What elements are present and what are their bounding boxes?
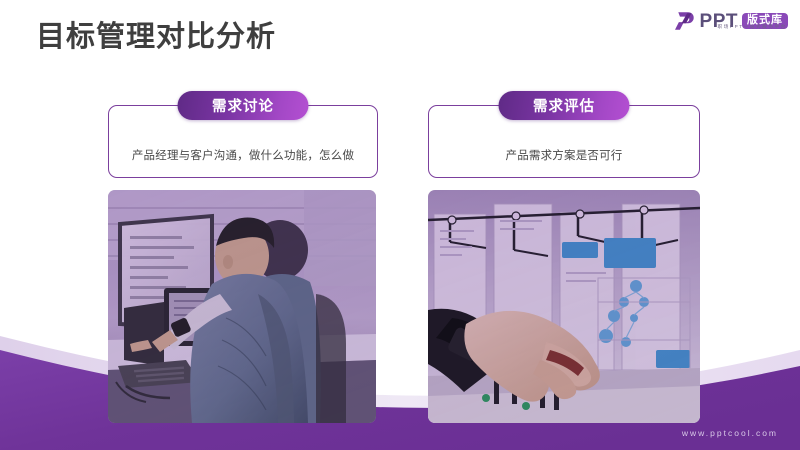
brand-logo: PPT 版式库 (675, 6, 788, 36)
hand-pointing-at-wireframe-wall-photo (428, 190, 700, 423)
card-pill-label: 需求讨论 (178, 91, 309, 120)
card-pill-label: 需求评估 (499, 91, 630, 120)
page-title: 目标管理对比分析 (36, 17, 276, 57)
photo-purple-tint (108, 190, 376, 423)
card-requirement-evaluation: 需求评估 产品需求方案是否可行 (428, 105, 700, 178)
footer-website-url: www.pptcool.com (682, 428, 778, 438)
card-body-text: 产品经理与客户沟通，做什么功能，怎么做 (109, 147, 377, 163)
office-team-at-computers-photo (108, 190, 376, 423)
logo-tagline: 职场PPT一站式服务平台 (718, 24, 787, 30)
card-body-text: 产品需求方案是否可行 (429, 147, 699, 163)
card-requirement-discussion: 需求讨论 产品经理与客户沟通，做什么功能，怎么做 (108, 105, 378, 178)
photo-purple-tint (428, 190, 700, 423)
letter-p-mark-icon (675, 10, 697, 32)
slide-canvas: 目标管理对比分析 PPT 版式库 职场PPT一站式服务平台 需求讨论 产品经理与… (0, 0, 800, 450)
